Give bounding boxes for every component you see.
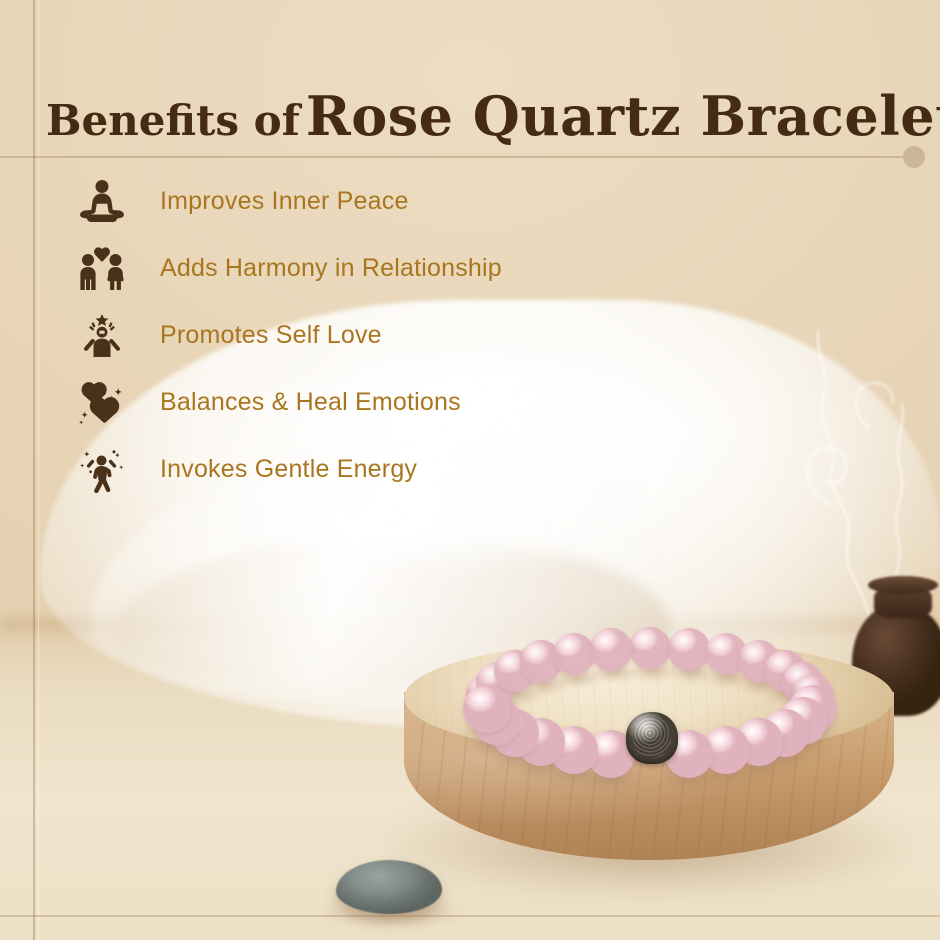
wooden-display-stand	[404, 640, 894, 890]
rose-quartz-bead	[705, 633, 747, 675]
bead-shadow	[706, 668, 754, 687]
rose-quartz-bead	[702, 726, 750, 774]
bead-shadow	[547, 764, 601, 786]
bead-shadow	[467, 709, 515, 728]
bead-shadow	[629, 662, 677, 681]
rose-quartz-bead	[476, 662, 518, 704]
bead-shadow	[758, 747, 812, 769]
infographic-canvas: Benefits of Rose Quartz Bracelet Improve…	[0, 0, 940, 940]
incense-burner-pot	[852, 566, 940, 716]
rose-quartz-bead	[761, 709, 809, 757]
silk-fabric-fold	[110, 540, 670, 690]
bead-shadow	[699, 764, 753, 786]
table-edge-shadow	[0, 612, 940, 638]
bead-shadow	[764, 685, 812, 704]
rose-quartz-bead	[520, 640, 562, 682]
rose-quartz-bead	[463, 685, 511, 733]
stand-top-surface	[404, 640, 894, 756]
bead-shadow	[786, 723, 840, 745]
page-title: Benefits of Rose Quartz Bracelet	[46, 84, 940, 148]
jumping-person-sparkle-icon	[78, 446, 134, 494]
rose-quartz-bead	[665, 730, 713, 778]
rose-quartz-bead	[738, 640, 780, 682]
incense-smoke-icon	[720, 300, 910, 630]
two-hearts-sparkle-icon	[78, 379, 134, 427]
rose-quartz-bead	[473, 697, 521, 745]
meditating-person-icon	[78, 178, 134, 226]
rose-quartz-bead	[792, 674, 834, 716]
silver-buddha-bead	[626, 712, 678, 764]
pebble-shadow	[318, 900, 468, 926]
horizontal-rule-bottom	[0, 915, 940, 917]
rose-quartz-bead	[779, 697, 827, 745]
gray-pebble-stone	[336, 860, 442, 914]
bead-shadow	[590, 663, 638, 682]
rose-quartz-bead	[494, 650, 536, 692]
horizontal-rule-top	[0, 156, 912, 158]
stand-shadow	[378, 790, 918, 900]
bead-shadow	[783, 696, 831, 715]
benefits-list: Improves Inner Peace Adds Harmony in Rel…	[78, 168, 638, 503]
benefit-item: Invokes Gentle Energy	[78, 436, 638, 503]
rose-quartz-bead	[553, 633, 595, 675]
rose-quartz-bead	[517, 718, 565, 766]
bead-shadow	[488, 747, 542, 769]
benefit-label: Improves Inner Peace	[160, 187, 409, 216]
person-raised-arms-star-icon	[78, 312, 134, 360]
rule-end-dot	[903, 146, 925, 168]
pot-neck	[874, 584, 932, 618]
rose-quartz-bead	[550, 726, 598, 774]
rose-quartz-bracelet	[472, 640, 828, 780]
bead-shadow	[792, 709, 840, 728]
stand-side	[404, 692, 894, 860]
bead-shadow	[732, 756, 786, 778]
bead-shadow	[669, 663, 717, 682]
bead-shadow	[495, 685, 543, 704]
benefit-label: Promotes Self Love	[160, 321, 382, 350]
benefit-item: Promotes Self Love	[78, 302, 638, 369]
bead-shadow	[738, 675, 786, 694]
bead-shadow	[514, 756, 568, 778]
bead-shadow	[521, 675, 569, 694]
rose-quartz-bead	[587, 730, 635, 778]
benefit-label: Balances & Heal Emotions	[160, 388, 461, 417]
rose-quartz-bead	[590, 628, 632, 670]
rose-quartz-bead	[466, 674, 508, 716]
benefit-label: Invokes Gentle Energy	[160, 455, 417, 484]
pot-lip	[868, 576, 938, 594]
title-prefix: Benefits of	[46, 96, 300, 145]
bead-shadow	[460, 723, 514, 745]
benefit-item: Improves Inner Peace	[78, 168, 638, 235]
vertical-rule	[33, 0, 35, 940]
vertical-rule-highlight	[38, 0, 39, 940]
pot-body	[852, 604, 940, 716]
bead-shadow	[662, 768, 716, 790]
rose-quartz-bead	[764, 650, 806, 692]
rose-quartz-bead	[668, 628, 710, 670]
bead-shadow	[476, 696, 524, 715]
benefit-item: Adds Harmony in Relationship	[78, 235, 638, 302]
couple-with-heart-icon	[78, 245, 134, 293]
benefit-item: Balances & Heal Emotions	[78, 369, 638, 436]
rose-quartz-bead	[629, 627, 671, 669]
rose-quartz-bead	[491, 709, 539, 757]
rose-quartz-bead	[789, 685, 837, 733]
rose-quartz-bead	[735, 718, 783, 766]
bead-shadow	[553, 668, 601, 687]
bead-shadow	[584, 768, 638, 790]
benefit-label: Adds Harmony in Relationship	[160, 254, 502, 283]
table-surface	[0, 620, 940, 940]
bead-shadow	[776, 735, 830, 757]
title-main: Rose Quartz Bracelet	[306, 84, 940, 148]
rose-quartz-bead	[782, 662, 824, 704]
bead-shadow	[470, 735, 524, 757]
